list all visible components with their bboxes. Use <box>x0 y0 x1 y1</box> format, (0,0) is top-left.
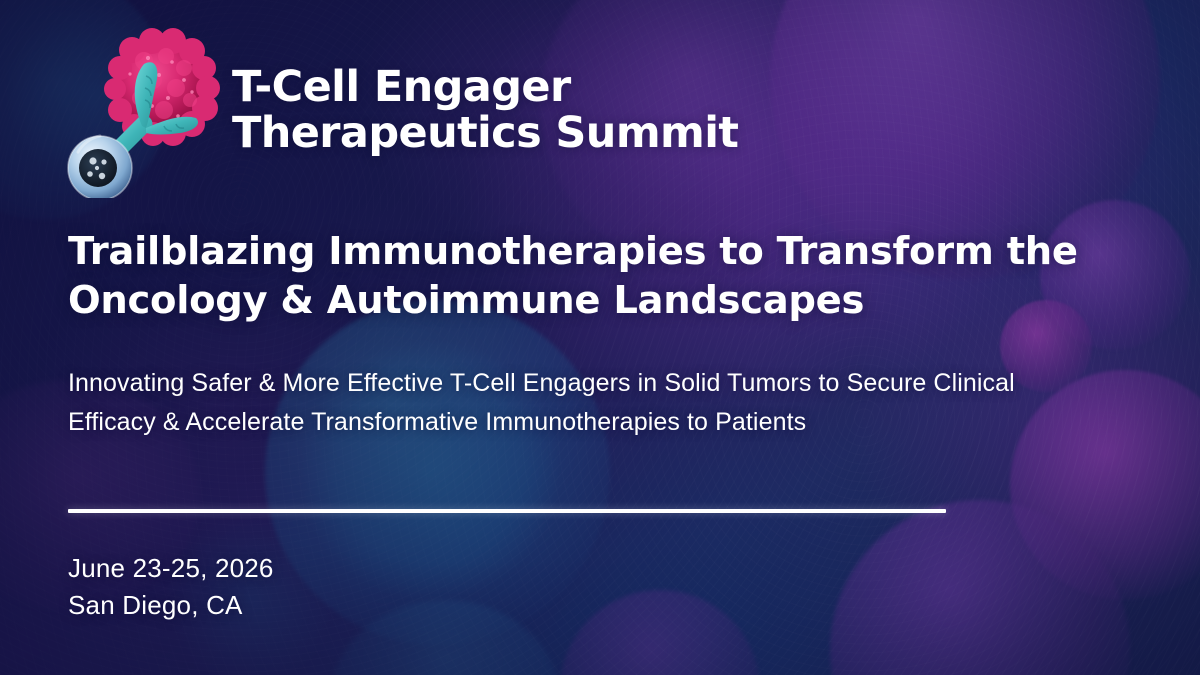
headline: Trailblazing Immunotherapies to Transfor… <box>68 228 1078 325</box>
subheadline: Innovating Safer & More Effective T-Cell… <box>68 364 1088 441</box>
logo-title-line-2: Therapeutics Summit <box>232 110 738 156</box>
event-location: San Diego, CA <box>68 587 274 624</box>
conference-banner: T-Cell Engager Therapeutics Summit Trail… <box>0 0 1200 675</box>
tcell-engager-logo-icon <box>60 28 230 198</box>
logo-wordmark: T-Cell Engager Therapeutics Summit <box>232 64 738 162</box>
divider-rule <box>68 509 946 513</box>
logo-lockup: T-Cell Engager Therapeutics Summit <box>60 28 738 198</box>
logo-title-line-1: T-Cell Engager <box>232 64 738 110</box>
event-details: June 23-25, 2026 San Diego, CA <box>68 550 274 625</box>
event-dates: June 23-25, 2026 <box>68 550 274 587</box>
banner-content: T-Cell Engager Therapeutics Summit Trail… <box>0 0 1200 675</box>
t-cell <box>68 136 132 198</box>
